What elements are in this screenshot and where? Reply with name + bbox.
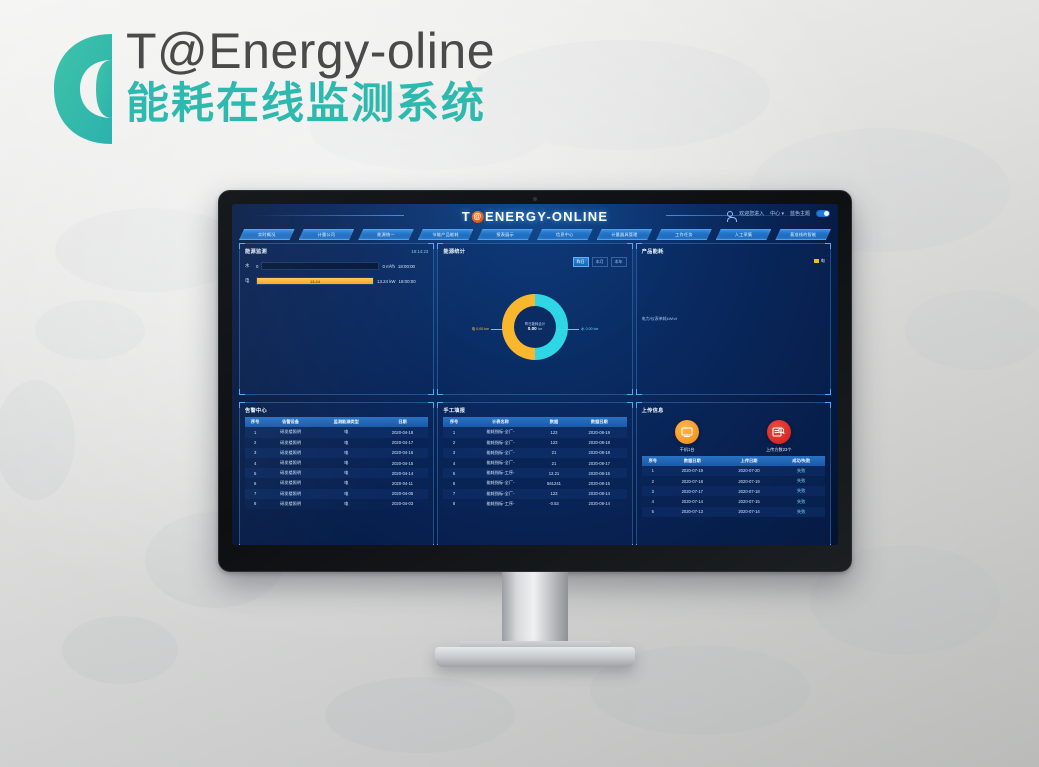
monitor-base [435,647,635,667]
table-row[interactable]: 32020-07-172020-07-18失败 [642,486,825,496]
manual-entry-table: 序号计表名称数据数据日期 1能耗指标-全厂-1232020-08-192能耗指标… [443,417,626,509]
energy-row-electric-label: 电 [245,278,253,284]
brand-text-left: T [462,209,471,224]
tab-yesterday[interactable]: 昨日 [573,257,589,267]
cell-0: 3 [443,448,464,458]
cell-1: 能耗指标-全厂- [465,427,536,437]
dashboard-brand: T @ ENERGY-ONLINE [462,209,608,224]
cell-1: 研发楼照明 [265,427,316,437]
tab-year[interactable]: 本年 [611,257,627,267]
table-row[interactable]: 12020-07-192020-07-20失败 [642,466,825,476]
cell-3: 2020-04-16 [377,448,429,458]
column-header-2: 上传日期 [721,456,778,466]
cell-0: 1 [245,427,265,437]
table-row[interactable]: 8能耗指标-工序--0.532020-08-14 [443,499,626,509]
cell-0: 3 [245,448,265,458]
cell-2: 2020-07-20 [721,466,778,476]
column-header-1: 计表名称 [465,417,536,427]
upload-stat-device[interactable]: 干机1台 [675,420,699,453]
cell-1: 能耗指标-全厂- [465,478,536,488]
column-header-1: 数据日期 [664,456,721,466]
panel-title-manual-entry: 手工填报 [443,407,626,414]
cell-3: 失败 [777,486,825,496]
cell-2: 电 [316,499,377,509]
cell-3: 失败 [777,507,825,517]
legend-label-electric: 电 [821,258,825,264]
cell-3: 2020-04-17 [377,438,429,448]
cell-0: 7 [245,489,265,499]
theme-toggle[interactable] [816,210,830,217]
cell-0: 5 [245,468,265,478]
cell-3: 失败 [777,496,825,506]
table-header-row: 序号数据日期上传日期成功/失败 [642,456,825,466]
cell-1: 2020-07-17 [664,486,721,496]
donut-center-value: 0.00 tce [525,326,545,332]
table-header-row: 序号计表名称数据数据日期 [443,417,626,427]
table-row[interactable]: 22020-07-182020-07-19失败 [642,476,825,486]
cell-2: 2020-07-18 [721,486,778,496]
cell-2: 电 [316,427,377,437]
cell-3: 2020-04-11 [377,478,429,488]
cell-3: 2020-08-18 [572,438,627,448]
cell-0: 6 [443,478,464,488]
brand-text-right: ENERGY-ONLINE [485,209,608,224]
cell-0: 1 [443,427,464,437]
main-nav[interactable]: 实时概况 计量公司 能源统一 节能产品能耗 报表展示 信息中心 计量器具管理 工… [232,229,838,240]
cell-3: 2020-08-17 [572,458,627,468]
table-row[interactable]: 4能耗指标-全厂-212020-08-17 [443,458,626,468]
cell-1: 2020-07-19 [664,466,721,476]
dashboard-bottom-row: 告警中心 序号告警设备监测能源类型日期 1研发楼照明电2020-04-182研发… [232,399,838,545]
energy-row-electric: 电 13.24 13.24 kW 18:00:00 [245,277,428,285]
dashboard-top-row: 能源监测 18:14:23 水 0 0 m³/h 18:00:00 电 [232,240,838,399]
cell-3: 2020-04-14 [377,468,429,478]
table-row[interactable]: 42020-07-142020-07-15失败 [642,496,825,506]
table-row[interactable]: 1研发楼照明电2020-04-18 [245,427,428,437]
energy-row-water-bar [261,262,379,270]
cell-1: 能耗指标-工序- [465,499,536,509]
cell-3: 失败 [777,476,825,486]
panel-upload-info: 上传信息 干机1台 上传方数23个 [636,402,831,545]
cell-1: 研发楼照明 [265,448,316,458]
dashboard-screen: T @ ENERGY-ONLINE 欢迎您进入 中心 ▾ 蓝色主题 实时概况 计… [232,204,838,545]
panel-manual-entry: 手工填报 序号计表名称数据数据日期 1能耗指标-全厂-1232020-08-19… [437,402,632,545]
page-title-cn: 能耗在线监测系统 [126,80,495,129]
upload-info-table: 序号数据日期上传日期成功/失败 12020-07-192020-07-20失败2… [642,456,825,517]
cell-3: 2020-08-18 [572,448,627,458]
energy-row-water-reading: 0 m³/h [382,264,394,269]
panel-title-product-energy: 产品能耗 [642,248,825,255]
column-header-1: 告警设备 [265,417,316,427]
nav-item-5[interactable]: 信息中心 [537,229,593,240]
brand-logo-icon [52,30,114,148]
theme-label: 蓝色主题 [790,210,810,217]
cell-2: 12.21 [536,468,572,478]
cell-1: 能耗指标-全厂- [465,448,536,458]
cell-2: 电 [316,448,377,458]
monitor: T @ ENERGY-ONLINE 欢迎您进入 中心 ▾ 蓝色主题 实时概况 计… [218,190,852,572]
cell-1: 能耗指标-全厂- [465,438,536,448]
table-header-row: 序号告警设备监测能源类型日期 [245,417,428,427]
nav-item-0[interactable]: 实时概况 [239,229,295,240]
cell-0: 2 [443,438,464,448]
brand-wing-left [254,215,404,216]
cell-2: 123 [536,489,572,499]
cell-2: 21 [536,458,572,468]
energy-monitor-time: 18:14:23 [411,249,428,254]
cell-3: 2020-04-15 [377,458,429,468]
energy-donut-chart: 电 0.00 tce 昨日能耗合计 0.00 tce [443,267,626,387]
cell-2: 电 [316,478,377,488]
cell-3: 2020-08-15 [572,478,627,488]
cell-0: 2 [245,438,265,448]
cell-0: 5 [642,507,664,517]
cell-1: 研发楼照明 [265,438,316,448]
upload-stat-report[interactable]: 上传方数23个 [766,420,792,453]
brand-at-icon: @ [472,211,484,223]
nav-item-9[interactable]: 基准线的智能 [775,229,831,240]
panel-title-energy-monitor: 能源监测 [245,248,267,255]
page-title-en: T@Energy-oline [126,24,495,78]
table-row[interactable]: 4研发楼照明电2020-04-15 [245,458,428,468]
table-row[interactable]: 52020-07-132020-07-14失败 [642,507,825,517]
user-bar[interactable]: 欢迎您进入 中心 ▾ 蓝色主题 [727,210,830,217]
cell-0: 6 [245,478,265,488]
cell-3: 失败 [777,466,825,476]
panel-title-alarm-center: 告警中心 [245,407,428,414]
column-header-0: 序号 [245,417,265,427]
cell-3: 2020-08-19 [572,427,627,437]
user-name: 欢迎您进入 [739,210,764,217]
monitor-bezel: T @ ENERGY-ONLINE 欢迎您进入 中心 ▾ 蓝色主题 实时概况 计… [218,190,852,572]
cell-3: 2020-04-05 [377,489,429,499]
cell-2: 21 [536,448,572,458]
user-icon [727,211,733,217]
cell-3: 2020-04-18 [377,427,429,437]
column-header-2: 数据 [536,417,572,427]
upload-stat-device-label: 干机1台 [675,447,699,453]
table-row[interactable]: 5研发楼照明电2020-04-14 [245,468,428,478]
cell-2: 123 [536,438,572,448]
nav-item-8[interactable]: 人工采集 [716,229,772,240]
table-row[interactable]: 3研发楼照明电2020-04-16 [245,448,428,458]
energy-row-water: 水 0 0 m³/h 18:00:00 [245,262,428,270]
report-search-icon [767,420,791,444]
cell-2: 电 [316,458,377,468]
table-row[interactable]: 5能耗指标-工序-12.212020-08-15 [443,468,626,478]
dashboard-brandbar: T @ ENERGY-ONLINE 欢迎您进入 中心 ▾ 蓝色主题 [232,204,838,228]
donut-center: 昨日能耗合计 0.00 tce [525,322,545,332]
cell-1: 2020-07-18 [664,476,721,486]
cell-0: 4 [245,458,265,468]
cell-1: 能耗指标-全厂- [465,458,536,468]
device-icon [675,420,699,444]
product-energy-axis-note: 电力/仪表单耗kWh/t [642,316,825,322]
cell-3: 2020-08-15 [572,468,627,478]
energy-row-water-label: 水 [245,263,253,269]
cell-2: 2020-07-15 [721,496,778,506]
column-header-0: 序号 [642,456,664,466]
cell-1: 2020-07-14 [664,496,721,506]
upload-info-icons: 干机1台 上传方数23个 [642,420,825,453]
energy-row-water-time: 18:00:00 [398,264,415,269]
panel-title-energy-stats: 能源统计 [443,248,626,255]
table-row[interactable]: 3能耗指标-全厂-212020-08-18 [443,448,626,458]
cell-3: 2020-08-14 [572,499,627,509]
cell-0: 2 [642,476,664,486]
cell-2: -0.53 [536,499,572,509]
energy-row-electric-fill: 13.24 [257,278,373,284]
cell-0: 8 [443,499,464,509]
cell-2: 2020-07-14 [721,507,778,517]
table-row[interactable]: 1能耗指标-全厂-1232020-08-19 [443,427,626,437]
energy-row-electric-reading: 13.24 kW [377,279,396,284]
energy-row-electric-time: 18:00:00 [399,279,416,284]
cell-0: 7 [443,489,464,499]
cell-2: 2020-07-19 [721,476,778,486]
energy-row-water-value: 0 [256,264,258,269]
table-row[interactable]: 7能耗指标-全厂-1232020-08-14 [443,489,626,499]
cell-0: 3 [642,486,664,496]
panel-product-energy: 产品能耗 电 电力/仪表单耗kWh/t [636,243,831,395]
panel-energy-stats: 能源统计 昨日 本月 本年 电 0.00 tce 昨日能耗合计 [437,243,632,395]
user-role[interactable]: 中心 ▾ [770,210,784,217]
nav-item-1[interactable]: 计量公司 [299,229,355,240]
energy-row-electric-bar: 13.24 [256,277,374,285]
column-header-3: 日期 [377,417,429,427]
nav-item-6[interactable]: 计量器具管理 [597,229,653,240]
panel-title-upload-info: 上传信息 [642,407,825,414]
upload-stat-report-label: 上传方数23个 [766,447,792,453]
nav-item-3[interactable]: 节能产品能耗 [418,229,474,240]
cell-0: 1 [642,466,664,476]
cell-2: 电 [316,489,377,499]
donut-center-unit: tce [538,327,542,331]
table-row[interactable]: 2研发楼照明电2020-04-17 [245,438,428,448]
cell-2: 电 [316,468,377,478]
cell-1: 2020-07-13 [664,507,721,517]
cell-0: 8 [245,499,265,509]
cell-1: 能耗指标-全厂- [465,489,536,499]
cell-3: 2020-08-14 [572,489,627,499]
cell-0: 5 [443,468,464,478]
page-header: T@Energy-oline 能耗在线监测系统 [52,24,495,148]
monitor-neck [502,572,568,650]
cell-2: 123 [536,427,572,437]
column-header-2: 监测能源类型 [316,417,377,427]
legend-swatch-electric [814,259,819,263]
cell-2: 电 [316,438,377,448]
cell-1: 研发楼照明 [265,489,316,499]
table-row[interactable]: 2能耗指标-全厂-1232020-08-18 [443,438,626,448]
cell-1: 研发楼照明 [265,499,316,509]
cell-0: 4 [443,458,464,468]
cell-3: 2020-04-03 [377,499,429,509]
table-row[interactable]: 6研发楼照明电2020-04-11 [245,478,428,488]
table-row[interactable]: 7研发楼照明电2020-04-05 [245,489,428,499]
nav-item-7[interactable]: 工作任务 [656,229,712,240]
donut-label-right: 水 0.00 tce [557,327,598,332]
cell-1: 研发楼照明 [265,468,316,478]
nav-item-4[interactable]: 报表展示 [477,229,533,240]
webcam-icon [533,197,537,201]
cell-0: 4 [642,496,664,506]
column-header-3: 成功/失败 [777,456,825,466]
panel-alarm-center: 告警中心 序号告警设备监测能源类型日期 1研发楼照明电2020-04-182研发… [239,402,434,545]
cell-1: 能耗指标-工序- [465,468,536,478]
table-row[interactable]: 6能耗指标-全厂-5612412020-08-15 [443,478,626,488]
cell-1: 研发楼照明 [265,458,316,468]
table-row[interactable]: 8研发楼照明电2020-04-03 [245,499,428,509]
panel-energy-monitor: 能源监测 18:14:23 水 0 0 m³/h 18:00:00 电 [239,243,434,395]
product-energy-legend: 电 [642,258,825,264]
cell-1: 研发楼照明 [265,478,316,488]
column-header-0: 序号 [443,417,464,427]
column-header-3: 数据日期 [572,417,627,427]
cell-2: 561241 [536,478,572,488]
tab-month[interactable]: 本月 [592,257,608,267]
alarm-center-table: 序号告警设备监测能源类型日期 1研发楼照明电2020-04-182研发楼照明电2… [245,417,428,509]
nav-item-2[interactable]: 能源统一 [358,229,414,240]
energy-stats-tabs[interactable]: 昨日 本月 本年 [443,257,626,267]
